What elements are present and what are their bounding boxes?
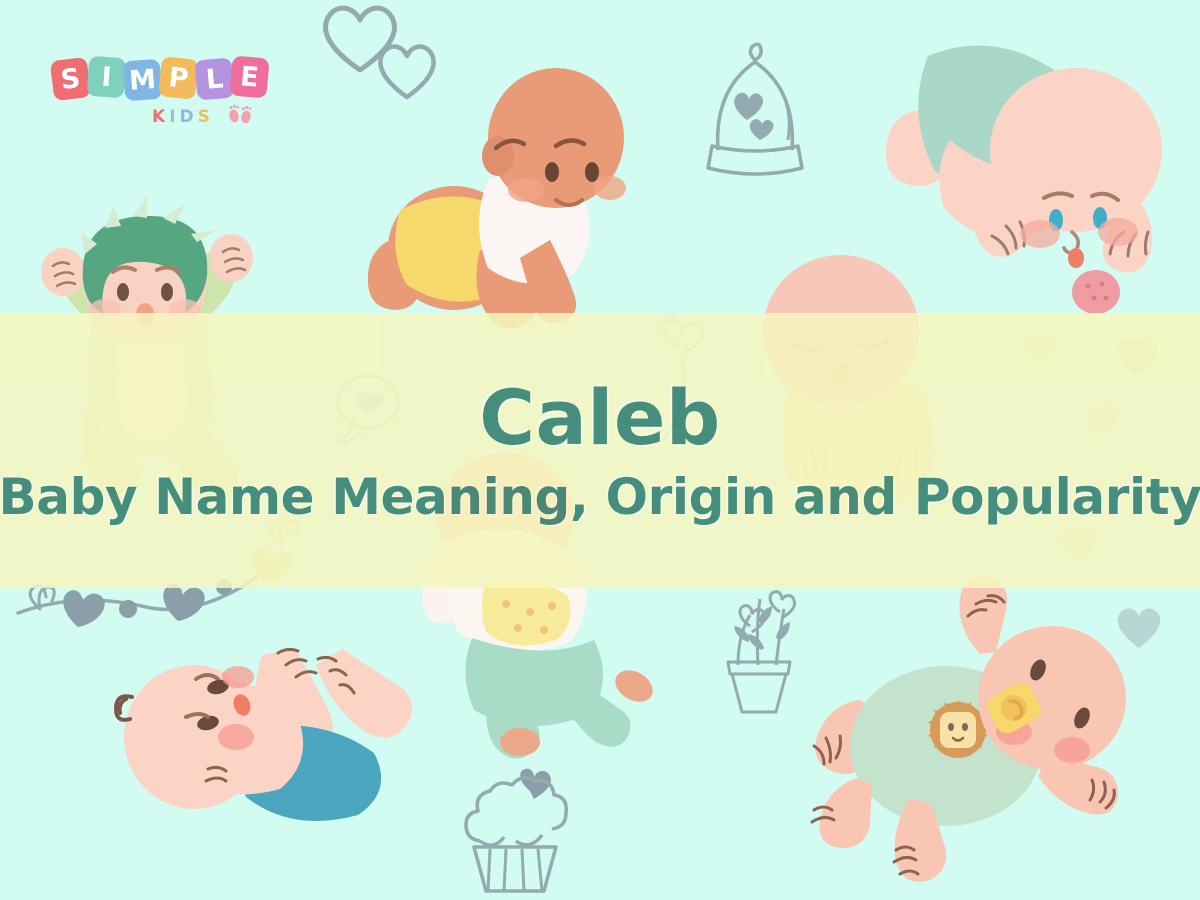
logo-subtitle: KIDS	[152, 107, 214, 127]
logo-letter-blocks: SIMPLE	[52, 55, 267, 103]
logo-kids-letter-2: D	[180, 107, 198, 127]
logo-block-i-1: I	[87, 56, 127, 98]
baby-footprints-icon	[228, 103, 254, 127]
baby-name-card: Caleb Baby Name Meaning, Origin and Popu…	[0, 0, 1200, 900]
site-logo[interactable]: SIMPLE KIDS	[52, 55, 267, 140]
logo-kids-letter-1: I	[169, 107, 179, 127]
page-subtitle: Baby Name Meaning, Origin and Popularity	[0, 472, 1200, 522]
title-banner: Caleb Baby Name Meaning, Origin and Popu…	[0, 313, 1200, 588]
logo-block-s-0: S	[50, 57, 92, 101]
logo-block-m-2: M	[123, 59, 163, 101]
logo-kids-letter-0: K	[152, 107, 169, 127]
logo-block-l-4: L	[194, 57, 234, 100]
page-title: Caleb	[479, 380, 721, 456]
logo-kids-letter-3: S	[198, 107, 214, 127]
logo-block-p-3: P	[158, 56, 199, 100]
logo-block-e-5: E	[229, 55, 269, 98]
